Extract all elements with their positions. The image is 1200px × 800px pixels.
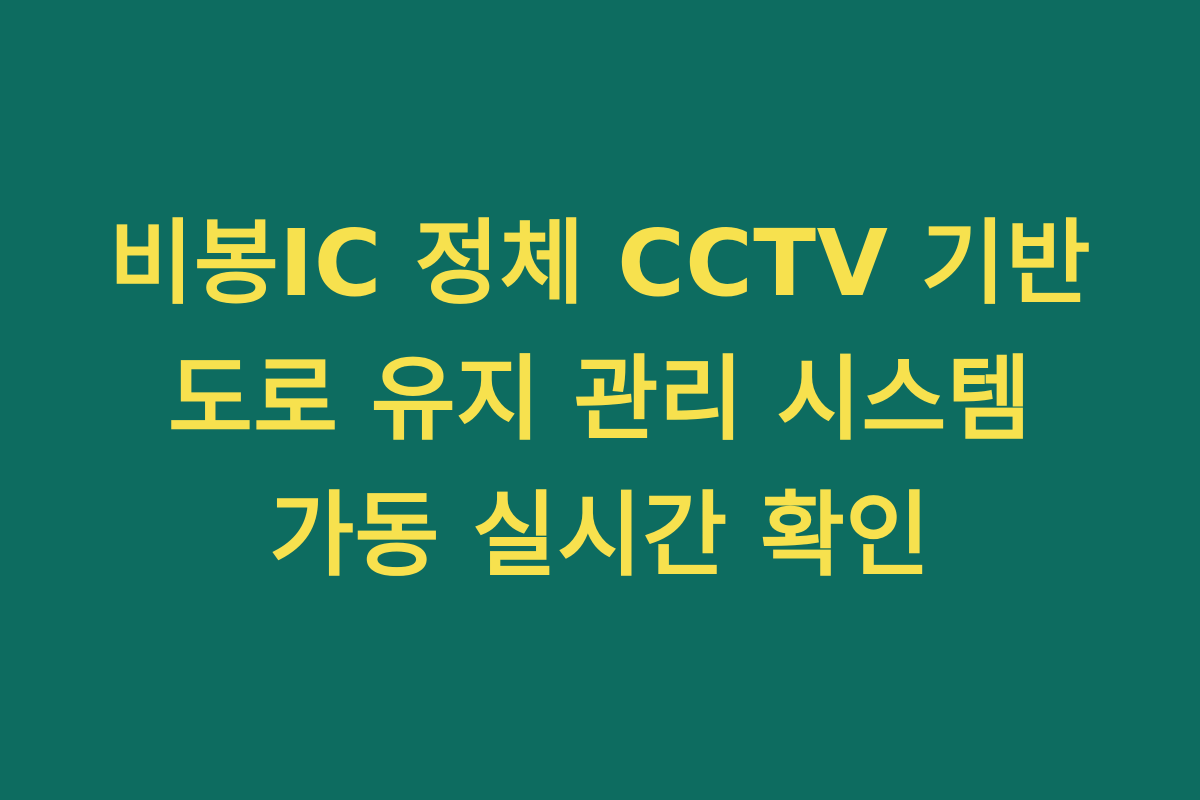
headline-line-1: 비봉IC 정체 CCTV 기반: [70, 196, 1130, 332]
title-card: 비봉IC 정체 CCTV 기반 도로 유지 관리 시스템 가동 실시간 확인: [0, 0, 1200, 800]
headline-line-3: 가동 실시간 확인: [70, 468, 1130, 604]
headline-line-2: 도로 유지 관리 시스템: [70, 332, 1130, 468]
page-title: 비봉IC 정체 CCTV 기반 도로 유지 관리 시스템 가동 실시간 확인: [70, 196, 1130, 604]
